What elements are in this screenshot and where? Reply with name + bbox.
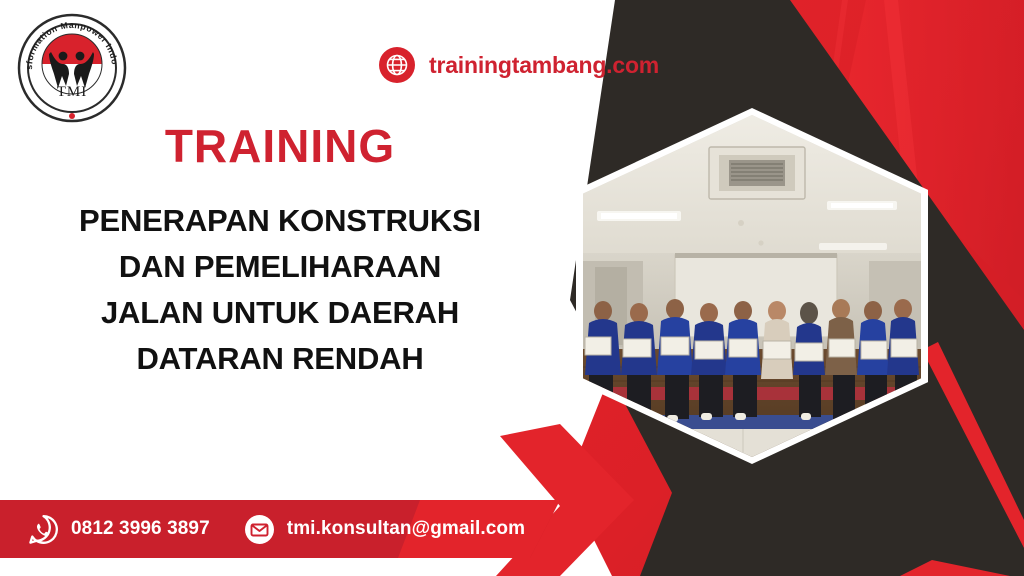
red-edge-stripe-2 [900, 560, 1010, 576]
whatsapp-number[interactable]: 0812 3996 3897 [71, 518, 210, 540]
headline-kicker: TRAINING [0, 122, 560, 170]
subtitle-line-3: JALAN UNTUK DAERAH [28, 290, 532, 336]
headline-subtitle: PENERAPAN KONSTRUKSI DAN PEMELIHARAAN JA… [0, 198, 560, 382]
contact-bar: 0812 3996 3897 tmi.konsultan@gmail.com [0, 500, 560, 558]
company-logo: TMI Transformation Manpower Indonesia [16, 12, 128, 124]
subtitle-line-1: PENERAPAN KONSTRUKSI [28, 198, 532, 244]
photo-hexagon [576, 108, 928, 464]
email-address[interactable]: tmi.konsultan@gmail.com [287, 518, 525, 540]
ceiling-ac-unit [709, 147, 805, 199]
envelope-icon [244, 514, 275, 545]
red-edge-stripe [922, 342, 1024, 548]
whatsapp-icon [28, 514, 59, 545]
email-contact[interactable]: tmi.konsultan@gmail.com [244, 514, 525, 545]
subtitle-line-4: DATARAN RENDAH [28, 336, 532, 382]
promo-poster: TMI Transformation Manpower Indonesia t [0, 0, 1024, 576]
logo-monogram: TMI [57, 84, 88, 100]
globe-icon [378, 46, 416, 84]
website-url[interactable]: trainingtambang.com [429, 52, 659, 79]
headline-block: TRAINING PENERAPAN KONSTRUKSI DAN PEMELI… [0, 122, 560, 382]
subtitle-line-2: DAN PEMELIHARAAN [28, 244, 532, 290]
website-line[interactable]: trainingtambang.com [378, 46, 659, 84]
whatsapp-contact[interactable]: 0812 3996 3897 [28, 514, 210, 545]
